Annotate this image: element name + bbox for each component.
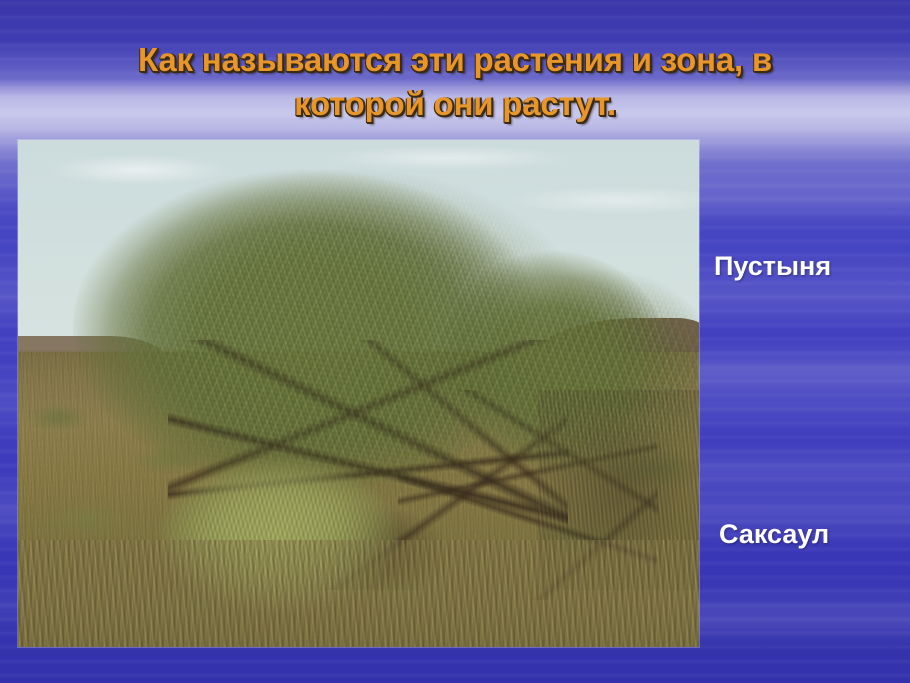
slide-title: Как называются эти растения и зона, в ко… [0, 38, 910, 126]
caption-desert: Пустыня [714, 251, 831, 282]
presentation-slide: Как называются эти растения и зона, в ко… [0, 0, 910, 683]
caption-saxaul: Саксаул [719, 519, 829, 550]
saxaul-photo [18, 140, 699, 647]
photo-vignette [18, 140, 699, 647]
